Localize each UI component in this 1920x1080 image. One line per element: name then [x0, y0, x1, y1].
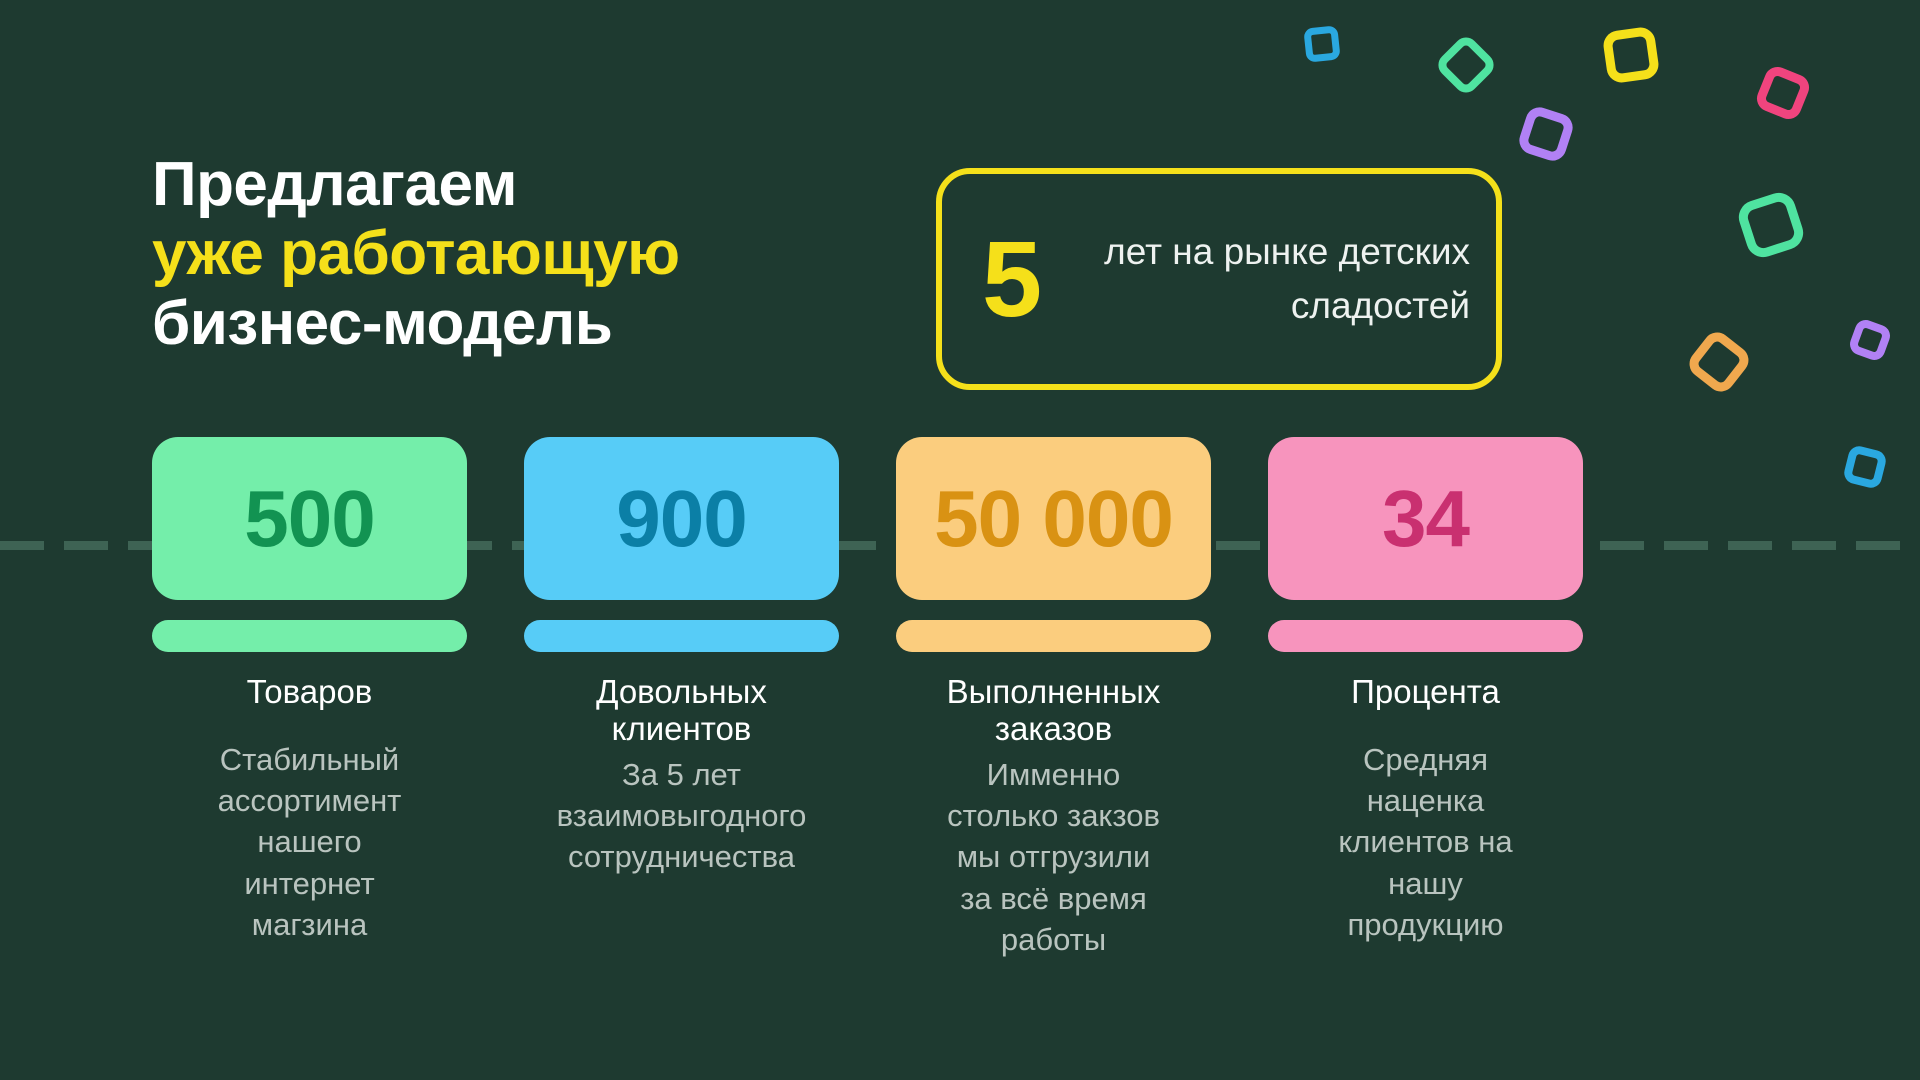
- stat-description: Средняя наценка клиентов на нашу продукц…: [1338, 739, 1512, 945]
- badge-number: 5: [982, 225, 1042, 333]
- square-green-1-icon: [1433, 32, 1498, 97]
- stat-card: 500: [152, 437, 467, 600]
- stat-column: 900Довольных клиентовЗа 5 лет взаимовыго…: [524, 437, 839, 960]
- stat-value: 50 000: [934, 479, 1173, 559]
- stat-card: 900: [524, 437, 839, 600]
- square-yellow-1-icon: [1602, 26, 1661, 85]
- headline-line-2-accent: уже работающую: [152, 219, 912, 288]
- stat-description: Имменно столько закзов мы отгрузили за в…: [947, 754, 1160, 960]
- square-green-2-icon: [1734, 188, 1807, 261]
- stat-label: Товаров: [247, 674, 373, 711]
- stat-accent-bar: [524, 620, 839, 652]
- square-purple-1-icon: [1516, 104, 1576, 164]
- stat-card: 34: [1268, 437, 1583, 600]
- square-purple-2-icon: [1847, 317, 1893, 363]
- years-on-market-badge: 5 лет на рынке детских сладостей: [936, 168, 1502, 390]
- infographic-slide: Предлагаем уже работающую бизнес-модель …: [0, 0, 1920, 1080]
- stat-label: Довольных клиентов: [596, 674, 767, 748]
- stat-value: 900: [616, 479, 746, 559]
- stat-accent-bar: [152, 620, 467, 652]
- square-blue-1-icon: [1303, 25, 1340, 62]
- stat-accent-bar: [896, 620, 1211, 652]
- stat-card: 50 000: [896, 437, 1211, 600]
- stat-description: Стабильный ассортимент нашего интернет м…: [218, 739, 402, 945]
- stat-column: 34ПроцентаСредняя наценка клиентов на на…: [1268, 437, 1583, 960]
- stat-value: 500: [244, 479, 374, 559]
- stat-cards-row: 500ТоваровСтабильный ассортимент нашего …: [152, 437, 1772, 960]
- headline-line-1: Предлагаем: [152, 150, 912, 219]
- stat-column: 50 000Выполненных заказовИмменно столько…: [896, 437, 1211, 960]
- stat-label: Процента: [1351, 674, 1500, 711]
- stat-label: Выполненных заказов: [947, 674, 1161, 748]
- square-pink-1-icon: [1753, 63, 1813, 123]
- page-title: Предлагаем уже работающую бизнес-модель: [152, 150, 912, 358]
- stat-column: 500ТоваровСтабильный ассортимент нашего …: [152, 437, 467, 960]
- headline-line-3: бизнес-модель: [152, 289, 912, 358]
- square-orange-1-icon: [1684, 327, 1754, 397]
- square-blue-2-icon: [1842, 444, 1888, 490]
- stat-accent-bar: [1268, 620, 1583, 652]
- stat-description: За 5 лет взаимовыгодного сотрудничества: [557, 754, 807, 878]
- stat-value: 34: [1382, 479, 1469, 559]
- badge-caption: лет на рынке детских сладостей: [1064, 225, 1470, 332]
